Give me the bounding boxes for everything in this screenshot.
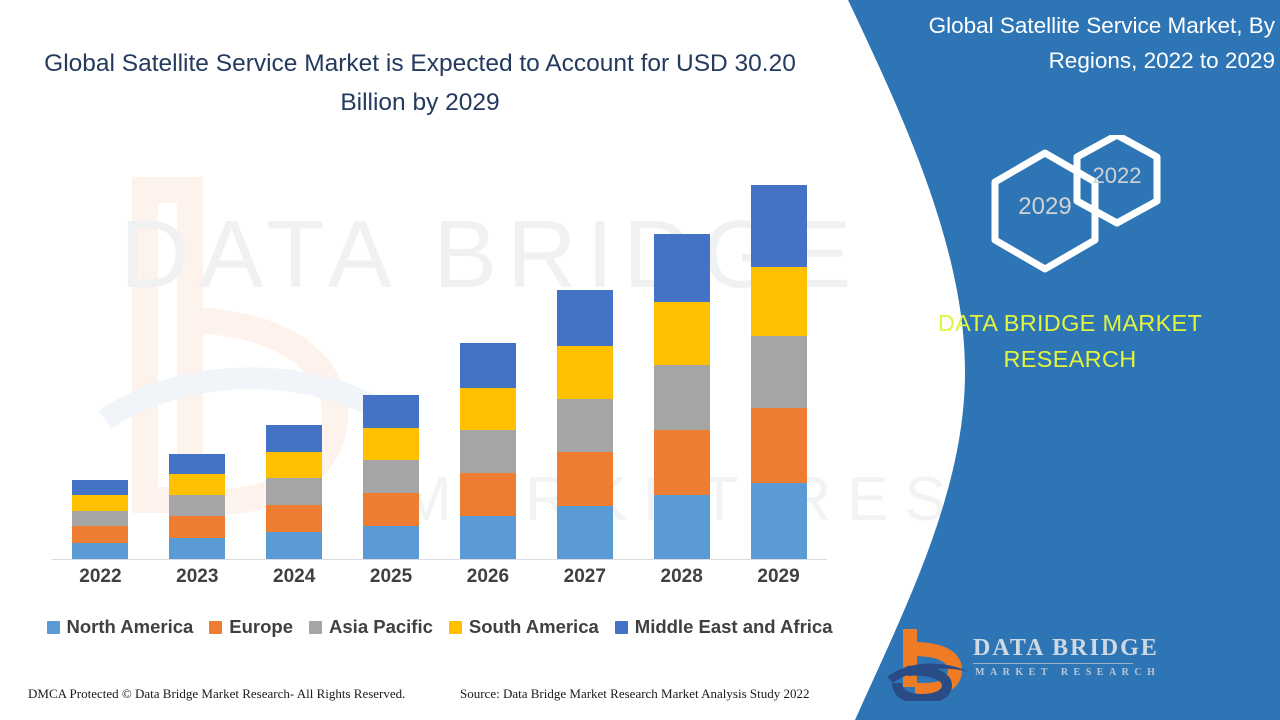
legend-item[interactable]: Middle East and Africa	[615, 616, 833, 638]
logo-title: DATA BRIDGE	[973, 635, 1159, 662]
bar-segment[interactable]	[266, 532, 322, 559]
bar-segment[interactable]	[169, 474, 225, 495]
logo-divider	[973, 663, 1133, 664]
legend-label: North America	[67, 616, 194, 638]
x-axis-tick-label: 2025	[343, 566, 440, 588]
bar-slot	[536, 150, 633, 559]
x-axis-line	[52, 559, 827, 560]
chart-legend: North AmericaEuropeAsia PacificSouth Ame…	[52, 616, 827, 638]
x-axis-tick-label: 2022	[52, 566, 149, 588]
right-panel: Global Satellite Service Market, By Regi…	[855, 0, 1280, 720]
bar-slot	[440, 150, 537, 559]
brand-name: DATA BRIDGE MARKET RESEARCH	[875, 305, 1265, 377]
bar-segment[interactable]	[460, 343, 516, 388]
bars-container	[52, 150, 827, 559]
page-title: Global Satellite Service Market is Expec…	[40, 44, 800, 122]
stacked-bar[interactable]	[169, 454, 225, 559]
bar-slot	[246, 150, 343, 559]
bar-segment[interactable]	[557, 452, 613, 506]
bar-segment[interactable]	[72, 480, 128, 495]
company-logo: DATA BRIDGE MARKET RESEARCH	[885, 625, 1135, 705]
bar-segment[interactable]	[654, 430, 710, 495]
legend-swatch	[209, 621, 222, 634]
bar-segment[interactable]	[72, 511, 128, 526]
x-axis-labels: 20222023202420252026202720282029	[52, 566, 827, 588]
hexagon-2022-label: 2022	[1083, 163, 1151, 189]
legend-swatch	[47, 621, 60, 634]
x-axis-tick-label: 2028	[633, 566, 730, 588]
bar-segment[interactable]	[654, 495, 710, 559]
bar-segment[interactable]	[751, 483, 807, 559]
stacked-bar[interactable]	[557, 290, 613, 559]
bar-segment[interactable]	[72, 526, 128, 543]
bar-slot	[343, 150, 440, 559]
legend-swatch	[309, 621, 322, 634]
legend-item[interactable]: Europe	[209, 616, 293, 638]
bar-segment[interactable]	[751, 336, 807, 409]
x-axis-tick-label: 2029	[730, 566, 827, 588]
bar-slot	[149, 150, 246, 559]
bar-segment[interactable]	[266, 452, 322, 478]
hexagon-2029-label: 2029	[1005, 193, 1085, 221]
stacked-bar[interactable]	[72, 480, 128, 559]
bar-segment[interactable]	[363, 460, 419, 493]
panel-title: Global Satellite Service Market, By Regi…	[875, 8, 1275, 78]
bar-segment[interactable]	[363, 493, 419, 526]
stacked-bar[interactable]	[266, 425, 322, 559]
x-axis-tick-label: 2024	[246, 566, 343, 588]
bar-segment[interactable]	[751, 408, 807, 482]
bar-segment[interactable]	[72, 495, 128, 510]
bar-segment[interactable]	[169, 538, 225, 559]
bar-segment[interactable]	[266, 425, 322, 452]
bar-segment[interactable]	[654, 302, 710, 365]
bar-segment[interactable]	[460, 516, 516, 559]
bar-segment[interactable]	[557, 399, 613, 452]
bar-segment[interactable]	[460, 430, 516, 473]
legend-label: Europe	[229, 616, 293, 638]
legend-item[interactable]: Asia Pacific	[309, 616, 433, 638]
brand-line-1: DATA BRIDGE MARKET	[938, 310, 1202, 336]
stacked-bar[interactable]	[363, 395, 419, 559]
brand-line-2: RESEARCH	[1004, 346, 1137, 372]
hexagon-badges: 2029 2022	[855, 135, 1280, 315]
source-note: Source: Data Bridge Market Research Mark…	[460, 686, 809, 702]
legend-item[interactable]: North America	[47, 616, 194, 638]
bar-segment[interactable]	[557, 290, 613, 346]
dmca-notice: DMCA Protected © Data Bridge Market Rese…	[28, 686, 405, 702]
legend-label: Asia Pacific	[329, 616, 433, 638]
stacked-bar[interactable]	[460, 343, 516, 559]
bar-segment[interactable]	[460, 388, 516, 430]
legend-label: Middle East and Africa	[635, 616, 833, 638]
legend-label: South America	[469, 616, 599, 638]
bar-segment[interactable]	[654, 234, 710, 302]
bar-segment[interactable]	[751, 267, 807, 336]
bar-segment[interactable]	[654, 365, 710, 429]
legend-swatch	[615, 621, 628, 634]
stacked-bar[interactable]	[751, 185, 807, 559]
x-axis-tick-label: 2027	[536, 566, 633, 588]
legend-item[interactable]: South America	[449, 616, 599, 638]
bar-segment[interactable]	[557, 506, 613, 559]
bar-segment[interactable]	[751, 185, 807, 267]
bar-segment[interactable]	[266, 505, 322, 532]
bar-segment[interactable]	[557, 346, 613, 399]
x-axis-tick-label: 2023	[149, 566, 246, 588]
bar-segment[interactable]	[363, 395, 419, 428]
bar-segment[interactable]	[169, 495, 225, 516]
bar-segment[interactable]	[266, 478, 322, 505]
bar-slot	[633, 150, 730, 559]
logo-subtitle: MARKET RESEARCH	[975, 667, 1160, 678]
stacked-bar-chart	[52, 150, 827, 560]
bar-segment[interactable]	[72, 543, 128, 559]
infographic-canvas: DATA BRIDGE MARKET RESEARCH Global Satel…	[0, 0, 1280, 720]
legend-swatch	[449, 621, 462, 634]
logo-mark-icon	[885, 625, 975, 701]
stacked-bar[interactable]	[654, 234, 710, 559]
bar-segment[interactable]	[363, 428, 419, 460]
bar-segment[interactable]	[460, 473, 516, 516]
bar-segment[interactable]	[169, 516, 225, 538]
bar-segment[interactable]	[169, 454, 225, 474]
bar-segment[interactable]	[363, 526, 419, 559]
bar-slot	[730, 150, 827, 559]
bar-slot	[52, 150, 149, 559]
x-axis-tick-label: 2026	[440, 566, 537, 588]
